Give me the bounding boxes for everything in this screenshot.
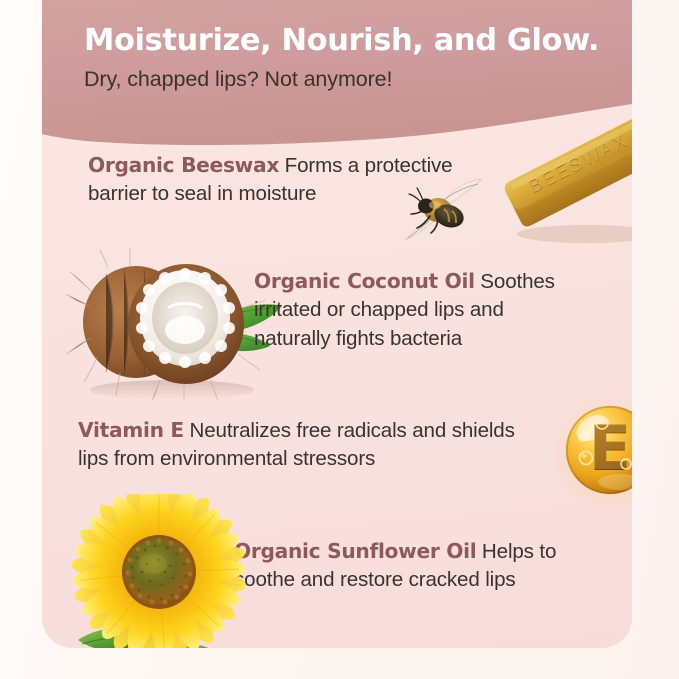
coconut-image [64, 248, 286, 400]
infographic-canvas: Moisturize, Nourish, and Glow. Dry, chap… [0, 0, 679, 679]
svg-text:E: E [589, 411, 631, 484]
svg-text:E: E [589, 412, 631, 485]
benefit-text-beeswax: Organic Beeswax Forms a protective barri… [88, 152, 508, 209]
ingredient-benefits-card: Moisturize, Nourish, and Glow. Dry, chap… [42, 0, 632, 648]
benefit-accent-sunflower: Organic Sunflower Oil [234, 539, 476, 563]
benefit-accent-coconut: Organic Coconut Oil [254, 269, 475, 293]
benefit-text-sunflower: Organic Sunflower Oil Helps to soothe an… [234, 538, 584, 595]
vitamin-e-capsule-image: E E E [550, 392, 632, 516]
sunflower-label: Sunflower bloom with stem [266, 494, 267, 495]
benefit-text-vitamin-e: Vitamin E Neutralizes free radicals and … [78, 417, 548, 474]
benefit-text-coconut: Organic Coconut Oil Soothes irritated or… [254, 268, 584, 353]
benefit-accent-vitamin-e: Vitamin E [78, 418, 184, 442]
benefit-accent-beeswax: Organic Beeswax [88, 153, 279, 177]
page-subtitle: Dry, chapped lips? Not anymore! [84, 67, 632, 92]
header-text-group: Moisturize, Nourish, and Glow. Dry, chap… [42, 0, 632, 160]
page-title: Moisturize, Nourish, and Glow. [84, 24, 632, 58]
